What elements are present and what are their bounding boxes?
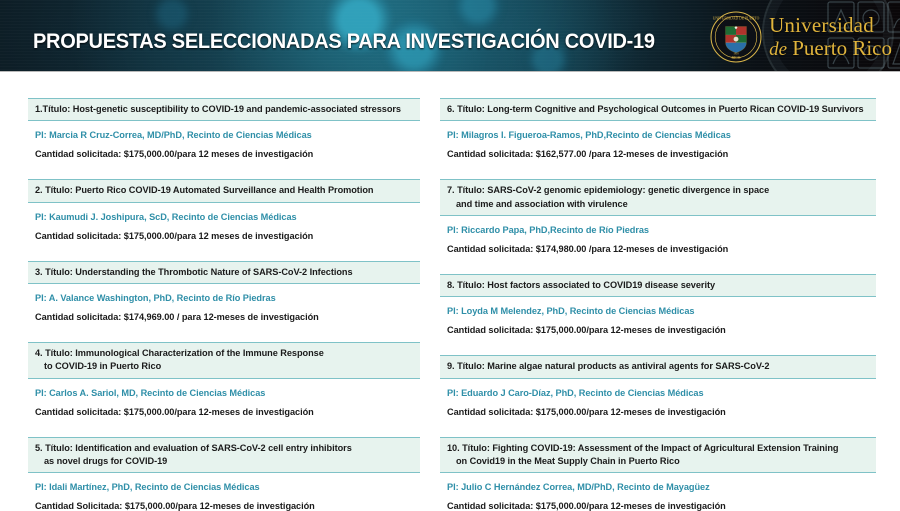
wordmark-line-2: Puerto Rico (792, 36, 892, 60)
proposal-title-line-1: 4. Título: Immunological Characterizatio… (35, 348, 324, 358)
proposal-amount: Cantidad Solicitada: $175,000.00/para 12… (28, 492, 420, 511)
proposal-amount: Cantidad solicitada: $175,000.00/para 12… (440, 492, 876, 511)
proposal-amount: Cantidad solicitada: $175,000.00/para 12… (440, 398, 876, 417)
svg-text:UNIVERSIDAD DE PUERTO: UNIVERSIDAD DE PUERTO (713, 16, 760, 20)
proposals-content: 1.Título: Host-genetic susceptibility to… (0, 72, 900, 470)
proposal-pi: PI: Loyda M Melendez, PhD, Recinto de Ci… (440, 297, 876, 316)
proposal-item: 10. Título: Fighting COVID-19: Assessmen… (440, 437, 876, 511)
proposal-title-line-2: on Covid19 in the Meat Supply Chain in P… (447, 455, 870, 468)
proposal-amount: Cantidad solicitada: $175,000.00/para 12… (440, 316, 876, 335)
upr-seal-icon: UNIVERSIDAD DE PUERTO RICO 1903 (710, 11, 762, 63)
proposal-amount: Cantidad solicitada: $175,000.00/para 12… (28, 398, 420, 417)
spacer (28, 171, 420, 179)
proposal-title-line-1: 3. Título: Understanding the Thrombotic … (35, 267, 353, 277)
proposal-title: 8. Título: Host factors associated to CO… (440, 274, 876, 297)
spacer (28, 429, 420, 437)
proposal-title-line-2: and time and association with virulence (447, 198, 870, 211)
proposal-title-line-1: 10. Título: Fighting COVID-19: Assessmen… (447, 443, 838, 453)
proposal-pi: PI: Marcia R Cruz-Correa, MD/PhD, Recint… (28, 121, 420, 140)
proposal-pi: PI: Kaumudi J. Joshipura, ScD, Recinto d… (28, 203, 420, 222)
proposal-title: 1.Título: Host-genetic susceptibility to… (28, 98, 420, 121)
wordmark-line-1: Universidad (769, 15, 892, 36)
proposal-title: 4. Título: Immunological Characterizatio… (28, 342, 420, 379)
page-header: PROPUESTAS SELECCIONADAS PARA INVESTIGAC… (0, 0, 900, 72)
spacer (440, 266, 876, 274)
proposal-pi: PI: Idali Martínez, PhD, Recinto de Cien… (28, 473, 420, 492)
proposal-title: 10. Título: Fighting COVID-19: Assessmen… (440, 437, 876, 474)
proposal-item: 9. Título: Marine algae natural products… (440, 355, 876, 416)
proposal-item: 3. Título: Understanding the Thrombotic … (28, 261, 420, 322)
proposal-title-line-2: as novel drugs for COVID-19 (35, 455, 414, 468)
proposal-title-line-1: 7. Título: SARS-CoV-2 genomic epidemiolo… (447, 185, 769, 195)
proposal-pi: PI: Riccardo Papa, PhD,Recinto de Río Pi… (440, 216, 876, 235)
proposal-item: 7. Título: SARS-CoV-2 genomic epidemiolo… (440, 179, 876, 254)
spacer (28, 334, 420, 342)
proposal-amount: Cantidad solicitada: $175,000.00/para 12… (28, 222, 420, 241)
proposal-title: 5. Título: Identification and evaluation… (28, 437, 420, 474)
proposal-pi: PI: Eduardo J Caro-Díaz, PhD, Recinto de… (440, 379, 876, 398)
upr-logo-lockup: UNIVERSIDAD DE PUERTO RICO 1903 Universi… (710, 8, 892, 66)
spacer (28, 253, 420, 261)
spacer (440, 347, 876, 355)
proposal-pi: PI: Milagros I. Figueroa-Ramos, PhD,Reci… (440, 121, 876, 140)
page-title: PROPUESTAS SELECCIONADAS PARA INVESTIGAC… (33, 29, 655, 54)
proposals-column-right: 6. Título: Long-term Cognitive and Psych… (432, 98, 900, 470)
proposal-title: 6. Título: Long-term Cognitive and Psych… (440, 98, 876, 121)
proposal-title-line-1: 2. Título: Puerto Rico COVID-19 Automate… (35, 185, 373, 195)
proposal-pi: PI: A. Valance Washington, PhD, Recinto … (28, 284, 420, 303)
proposal-title-line-1: 1.Título: Host-genetic susceptibility to… (35, 104, 401, 114)
proposal-pi: PI: Julio C Hernández Correa, MD/PhD, Re… (440, 473, 876, 492)
spacer (440, 429, 876, 437)
proposal-title-line-1: 8. Título: Host factors associated to CO… (447, 280, 715, 290)
proposal-title-line-2: to COVID-19 in Puerto Rico (35, 360, 414, 373)
proposal-amount: Cantidad solicitada: $175,000.00/para 12… (28, 140, 420, 159)
svg-text:1903: 1903 (733, 53, 739, 56)
proposal-title: 7. Título: SARS-CoV-2 genomic epidemiolo… (440, 179, 876, 216)
proposal-item: 5. Título: Identification and evaluation… (28, 437, 420, 511)
spacer (440, 171, 876, 179)
proposal-pi: PI: Carlos A. Sariol, MD, Recinto de Cie… (28, 379, 420, 398)
proposal-title-line-1: 6. Título: Long-term Cognitive and Psych… (447, 104, 864, 114)
upr-wordmark: Universidad de Puerto Rico (769, 15, 892, 59)
proposal-title-line-1: 5. Título: Identification and evaluation… (35, 443, 352, 453)
proposal-amount: Cantidad solicitada: $174,969.00 / para … (28, 303, 420, 322)
proposal-title: 2. Título: Puerto Rico COVID-19 Automate… (28, 179, 420, 202)
proposal-amount: Cantidad solicitada: $174,980.00 /para 1… (440, 235, 876, 254)
svg-text:RICO: RICO (732, 56, 741, 60)
proposal-title: 3. Título: Understanding the Thrombotic … (28, 261, 420, 284)
proposals-column-left: 1.Título: Host-genetic susceptibility to… (0, 98, 432, 470)
proposal-title: 9. Título: Marine algae natural products… (440, 355, 876, 378)
proposal-item: 1.Título: Host-genetic susceptibility to… (28, 98, 420, 159)
proposal-item: 8. Título: Host factors associated to CO… (440, 274, 876, 335)
proposal-title-line-1: 9. Título: Marine algae natural products… (447, 361, 769, 371)
proposal-item: 4. Título: Immunological Characterizatio… (28, 342, 420, 417)
proposal-item: 6. Título: Long-term Cognitive and Psych… (440, 98, 876, 159)
proposal-item: 2. Título: Puerto Rico COVID-19 Automate… (28, 179, 420, 240)
proposal-amount: Cantidad solicitada: $162,577.00 /para 1… (440, 140, 876, 159)
wordmark-de: de (769, 39, 787, 60)
